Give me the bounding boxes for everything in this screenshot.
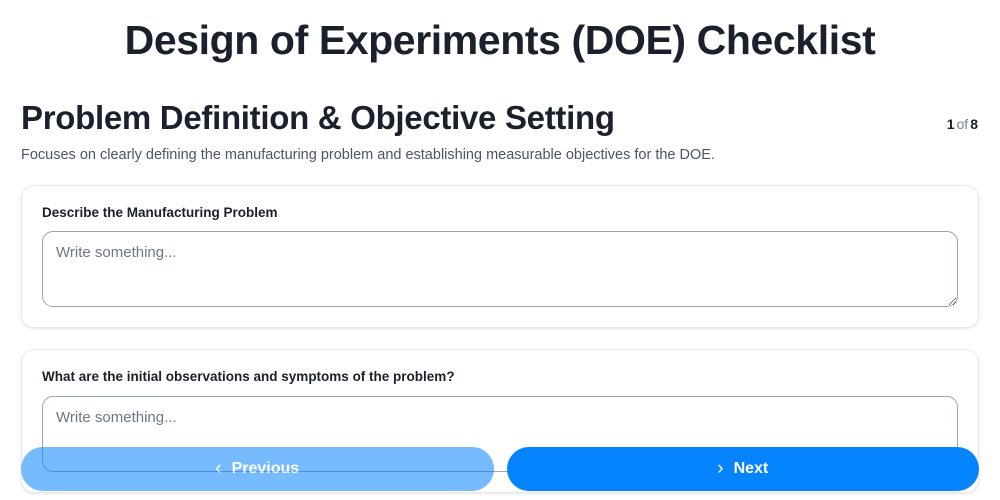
- question-card: Describe the Manufacturing Problem: [21, 185, 979, 329]
- next-button-label: Next: [734, 461, 769, 477]
- field-label: What are the initial observations and sy…: [42, 368, 958, 386]
- step-current: 1: [947, 116, 955, 132]
- step-of-label: of: [955, 116, 971, 132]
- app-header: Design of Experiments (DOE) Checklist: [0, 0, 1000, 63]
- next-button[interactable]: › Next: [507, 447, 980, 491]
- previous-button-label: Previous: [232, 461, 300, 477]
- previous-button[interactable]: ‹ Previous: [21, 447, 494, 491]
- section-header: Problem Definition & Objective Setting 1…: [0, 99, 1000, 137]
- step-total: 8: [970, 116, 978, 132]
- page-title: Design of Experiments (DOE) Checklist: [20, 18, 980, 63]
- manufacturing-problem-textarea[interactable]: [42, 231, 958, 307]
- step-counter: 1of8: [935, 116, 978, 132]
- chevron-right-icon: ›: [717, 459, 723, 478]
- field-label: Describe the Manufacturing Problem: [42, 204, 958, 222]
- chevron-left-icon: ‹: [215, 459, 221, 478]
- section-description: Focuses on clearly defining the manufact…: [0, 146, 1000, 166]
- section-title: Problem Definition & Objective Setting: [21, 99, 615, 137]
